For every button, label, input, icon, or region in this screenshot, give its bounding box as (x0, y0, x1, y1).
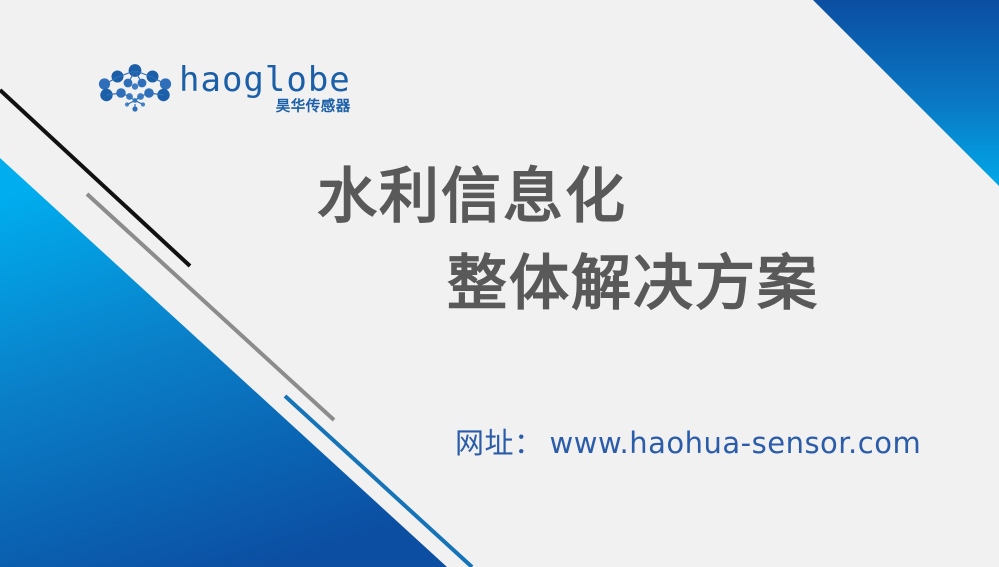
title-line-1: 水利信息化 (317, 160, 999, 235)
website-url[interactable]: www.haohua-sensor.com (550, 426, 922, 460)
website-line: 网址： www.haohua-sensor.com (455, 420, 921, 462)
company-logo: haoglobe 昊华传感器 (97, 58, 327, 120)
title-line-2: 整体解决方案 (447, 247, 999, 322)
logo-wordmark: haoglobe (179, 63, 351, 97)
website-label: 网址： (455, 420, 544, 462)
slide-canvas: haoglobe 昊华传感器 水利信息化 整体解决方案 网址： www.haoh… (0, 0, 999, 567)
logo-chinese-name: 昊华传感器 (276, 100, 351, 115)
molecular-network-icon (97, 63, 173, 115)
page-title: 水利信息化 整体解决方案 (0, 160, 999, 322)
